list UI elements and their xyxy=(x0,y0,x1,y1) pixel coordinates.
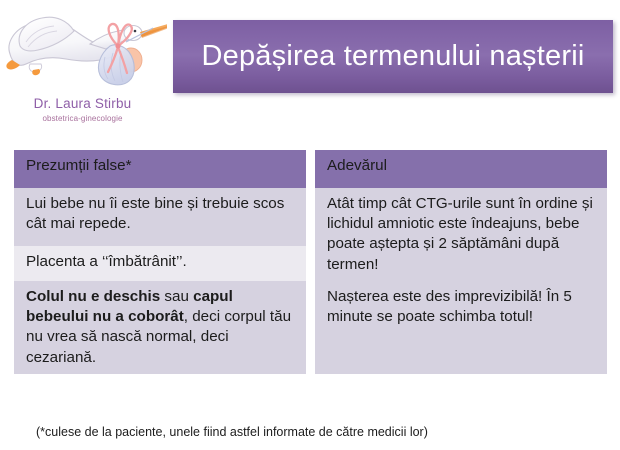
page-title: Depășirea termenului nașterii xyxy=(202,42,585,71)
false-claim-plain-1: sau xyxy=(160,288,193,305)
clinic-logo-block: Dr. Laura Stirbu obstetrica-ginecologie xyxy=(0,0,172,140)
table-column-divider xyxy=(306,188,315,246)
truth-cell-3: Nașterea este des imprevizibilă! În 5 mi… xyxy=(315,281,607,374)
truth-cell-1: Atât timp cât CTG-urile sunt în ordine ș… xyxy=(315,188,607,281)
false-claim-cell-1: Lui bebe nu îi este bine și trebuie scos… xyxy=(14,188,306,246)
false-claim-bold-1: Colul nu e deschis xyxy=(26,288,160,305)
doctor-name: Dr. Laura Stirbu xyxy=(0,96,165,111)
table-row: Lui bebe nu îi este bine și trebuie scos… xyxy=(14,188,607,246)
table-column-divider xyxy=(306,246,315,281)
myths-vs-truth-table: Prezumții false* Adevărul Lui bebe nu îi… xyxy=(14,150,607,374)
doctor-specialty: obstetrica-ginecologie xyxy=(0,114,165,123)
table-header-false-claims: Prezumții false* xyxy=(14,150,306,188)
stork-carrying-baby-bundle-icon xyxy=(2,2,167,94)
false-claim-cell-3: Colul nu e deschis sau capul bebeului nu… xyxy=(14,281,306,374)
slide-title-banner: Depășirea termenului nașterii xyxy=(173,20,613,93)
false-claim-part: Colul nu e deschis sau capul bebeului nu… xyxy=(26,288,291,366)
footnote-text: (*culese de la paciente, unele fiind ast… xyxy=(36,425,428,439)
table-column-divider xyxy=(306,150,315,188)
table-row: Colul nu e deschis sau capul bebeului nu… xyxy=(14,281,607,374)
table-column-divider xyxy=(306,281,315,374)
table-header-truth: Adevărul xyxy=(315,150,607,188)
stork-body-shape xyxy=(6,17,167,75)
false-claim-cell-2: Placenta a ‘‘îmbătrânit’’. xyxy=(14,246,306,281)
table-header-row: Prezumții false* Adevărul xyxy=(14,150,607,188)
